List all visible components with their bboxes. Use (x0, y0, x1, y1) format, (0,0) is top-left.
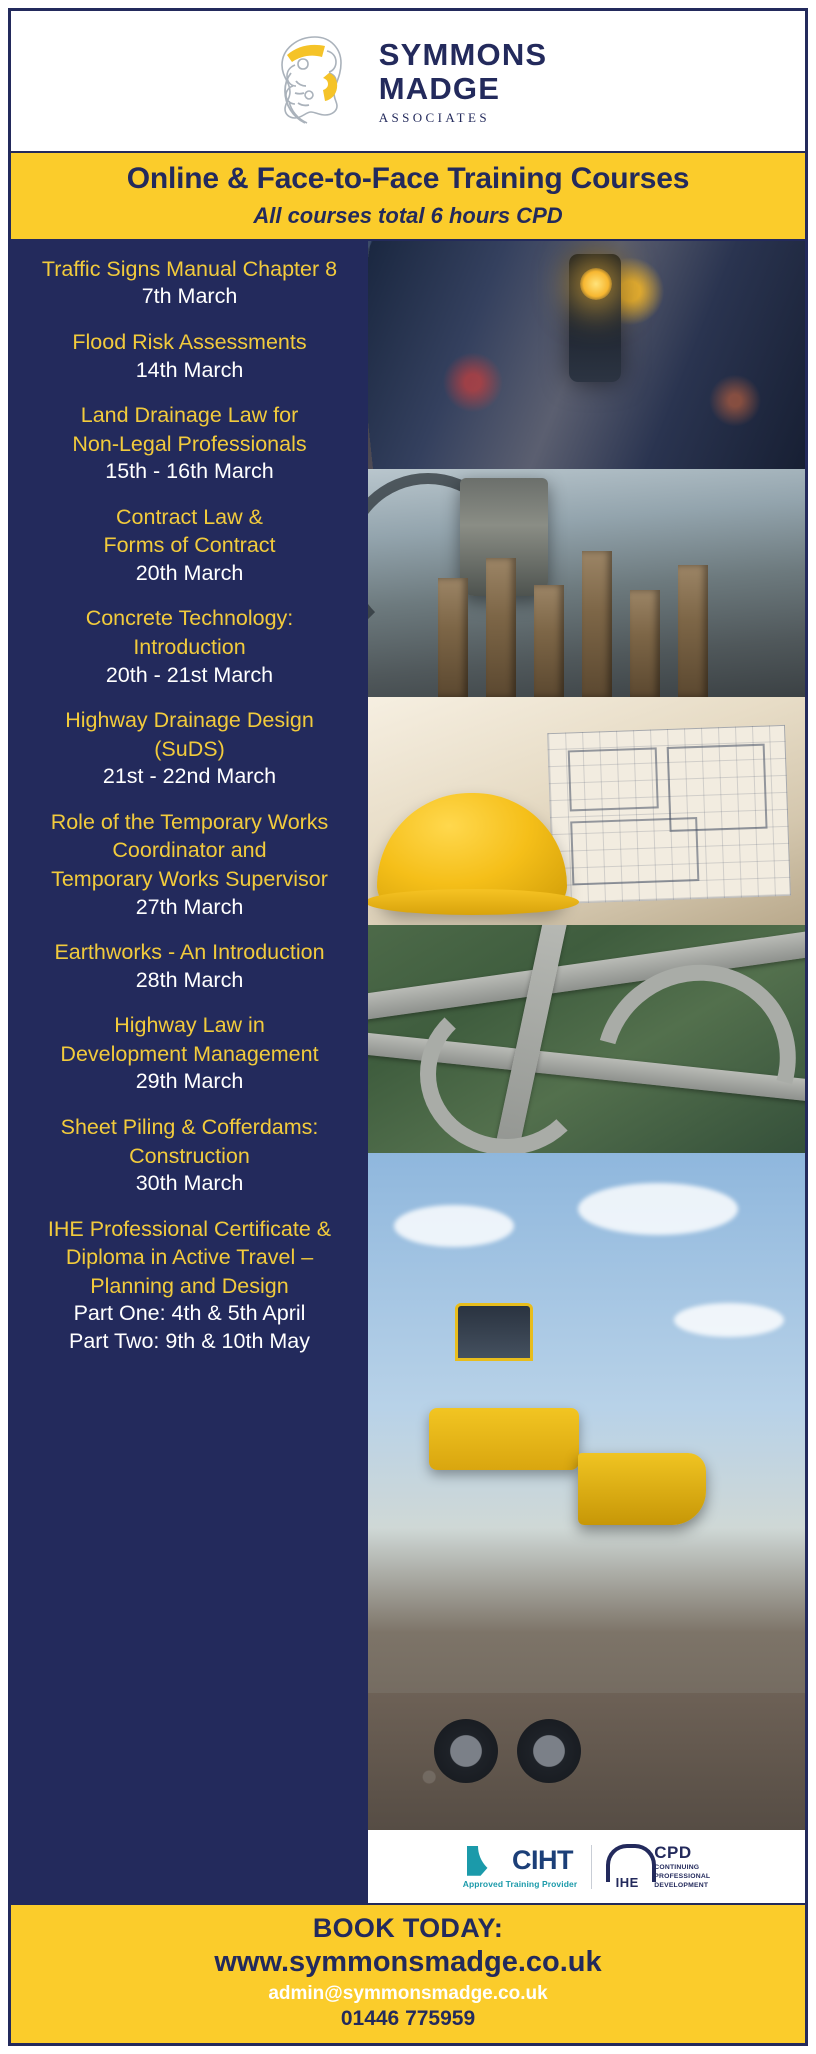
phone-number[interactable]: 01446 775959 (11, 2007, 805, 2031)
logo-divider (591, 1845, 592, 1889)
course-date: 28th March (17, 967, 362, 995)
course-title: Contract Law &Forms of Contract (17, 503, 362, 560)
banner-title: Online & Face-to-Face Training Courses (11, 162, 805, 197)
course-item[interactable]: Flood Risk Assessments14th March (17, 328, 362, 384)
cpd-line1: CONTINUING (654, 1864, 710, 1871)
course-item[interactable]: Traffic Signs Manual Chapter 87th March (17, 255, 362, 311)
aerial-motorway-junction-photo (368, 925, 805, 1153)
sheet-piling-photo (368, 469, 805, 697)
timber-pile (582, 551, 612, 697)
wheel-loader-photo: CIHT Approved Training Provider IHE CP (368, 1153, 805, 1903)
ihe-arc-icon: IHE (606, 1844, 648, 1890)
ciht-swoosh-icon (467, 1846, 507, 1876)
ihe-cpd-logo: IHE CPD CONTINUING PROFESSIONAL DEVELOPM… (606, 1844, 710, 1890)
timber-pile (678, 565, 708, 697)
course-date: 15th - 16th March (17, 458, 362, 486)
course-date: Part Two: 9th & 10th May (17, 1328, 362, 1356)
timber-pile (438, 578, 468, 697)
course-item[interactable]: Land Drainage Law forNon-Legal Professio… (17, 401, 362, 486)
website-link[interactable]: www.symmonsmadge.co.uk (11, 1946, 805, 1979)
accreditation-strip: CIHT Approved Training Provider IHE CP (368, 1830, 805, 1903)
course-title: Traffic Signs Manual Chapter 8 (17, 255, 362, 284)
night-traffic-lights-photo (368, 241, 805, 469)
course-date: 30th March (17, 1170, 362, 1198)
slip-road-ramp (420, 993, 592, 1153)
cpd-title: CPD (654, 1844, 710, 1862)
email-link[interactable]: admin@symmonsmadge.co.uk (11, 1983, 805, 2005)
training-courses-flyer: SYMMONS MADGE ASSOCIATES Online & Face-t… (0, 0, 816, 2054)
ciht-logo-row: CIHT (467, 1846, 573, 1876)
course-title: Highway Drainage Design(SuDS) (17, 706, 362, 763)
title-banner: Online & Face-to-Face Training Courses A… (11, 151, 805, 241)
book-today-heading: BOOK TODAY: (11, 1913, 805, 1944)
banner-subtitle: All courses total 6 hours CPD (11, 203, 805, 228)
course-item[interactable]: Contract Law &Forms of Contract20th Marc… (17, 503, 362, 588)
course-title: Sheet Piling & Cofferdams:Construction (17, 1113, 362, 1170)
course-item[interactable]: Earthworks - An Introduction28th March (17, 938, 362, 994)
ciht-strapline: Approved Training Provider (463, 1880, 578, 1889)
loader-wheel (517, 1719, 581, 1783)
body-area: Traffic Signs Manual Chapter 87th MarchF… (11, 241, 805, 1903)
brand-name-line2: MADGE (379, 73, 548, 104)
blueprint-drawing (547, 725, 791, 904)
timber-pile (630, 590, 660, 697)
course-date: 14th March (17, 357, 362, 385)
loader-wheel (434, 1719, 498, 1783)
course-date: Part One: 4th & 5th April (17, 1300, 362, 1328)
course-date: 7th March (17, 283, 362, 311)
loader-cab (455, 1303, 533, 1361)
course-date: 21st - 22nd March (17, 763, 362, 791)
cpd-block: CPD CONTINUING PROFESSIONAL DEVELOPMENT (654, 1844, 710, 1889)
course-item[interactable]: Sheet Piling & Cofferdams:Construction30… (17, 1113, 362, 1198)
cloud (394, 1205, 514, 1247)
course-date: 20th - 21st March (17, 662, 362, 690)
cpd-line2: PROFESSIONAL (654, 1873, 710, 1880)
loader-bucket (578, 1453, 706, 1525)
course-list: Traffic Signs Manual Chapter 87th MarchF… (11, 241, 368, 1903)
course-title: Earthworks - An Introduction (17, 938, 362, 967)
cloud (578, 1183, 738, 1235)
blueprint-room (567, 747, 658, 811)
footer-contact: BOOK TODAY: www.symmonsmadge.co.uk admin… (11, 1903, 805, 2043)
blueprint-room (570, 816, 699, 885)
ciht-name: CIHT (512, 1847, 573, 1874)
timber-pile (486, 558, 516, 697)
course-title: IHE Professional Certificate &Diploma in… (17, 1215, 362, 1301)
course-title: Highway Law inDevelopment Management (17, 1011, 362, 1068)
brand-name-line3: ASSOCIATES (379, 111, 548, 124)
cpd-line3: DEVELOPMENT (654, 1882, 710, 1889)
brand-wordmark: SYMMONS MADGE ASSOCIATES (379, 39, 548, 124)
flyer-frame: SYMMONS MADGE ASSOCIATES Online & Face-t… (8, 8, 808, 2046)
hard-hat (377, 793, 567, 911)
timber-pile (534, 585, 564, 697)
cloud (674, 1303, 784, 1337)
light-streaks-overlay (368, 241, 805, 469)
course-item[interactable]: Concrete Technology:Introduction20th - 2… (17, 604, 362, 689)
ciht-logo: CIHT Approved Training Provider (463, 1846, 578, 1889)
course-item[interactable]: Highway Law inDevelopment Management29th… (17, 1011, 362, 1096)
course-title: Flood Risk Assessments (17, 328, 362, 357)
course-item[interactable]: Highway Drainage Design(SuDS)21st - 22nd… (17, 706, 362, 791)
hard-hat-blueprints-photo (368, 697, 805, 925)
course-title: Role of the Temporary WorksCoordinator a… (17, 808, 362, 894)
course-item[interactable]: Role of the Temporary WorksCoordinator a… (17, 808, 362, 921)
course-date: 27th March (17, 894, 362, 922)
course-title: Land Drainage Law forNon-Legal Professio… (17, 401, 362, 458)
course-date: 20th March (17, 560, 362, 588)
brand-header: SYMMONS MADGE ASSOCIATES (11, 11, 805, 151)
course-date: 29th March (17, 1068, 362, 1096)
course-title: Concrete Technology:Introduction (17, 604, 362, 661)
course-item[interactable]: IHE Professional Certificate &Diploma in… (17, 1215, 362, 1356)
ihe-arc-shape (606, 1844, 656, 1882)
symmons-madge-head-icon (269, 29, 361, 133)
loader-body (429, 1408, 579, 1470)
photo-column: CIHT Approved Training Provider IHE CP (368, 241, 805, 1903)
brand-name-line1: SYMMONS (379, 39, 548, 70)
